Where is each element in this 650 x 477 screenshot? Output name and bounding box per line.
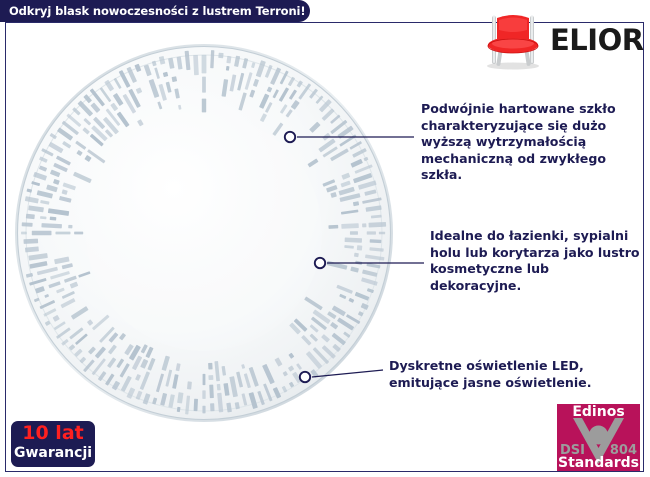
- brand-wordmark: ELIOR: [550, 23, 644, 57]
- standards-badge: Edinos DSI 804 Standards: [557, 404, 640, 471]
- callout-text-tempered-glass: Podwójnie hartowane szkło charakteryzują…: [421, 101, 637, 184]
- product-image-mirror: [13, 42, 395, 424]
- headline-text: Odkryj blask nowoczesności z lustrem Ter…: [0, 4, 306, 18]
- brand-logo: ELIOR: [480, 10, 640, 70]
- warranty-years-text: 10 lat: [11, 423, 95, 444]
- headline-banner: Odkryj blask nowoczesności z lustrem Ter…: [0, 0, 310, 22]
- warranty-badge: 10 lat Gwarancji: [11, 421, 95, 467]
- red-chair-icon: [480, 10, 546, 70]
- product-infographic-page: Odkryj blask nowoczesności z lustrem Ter…: [0, 0, 650, 477]
- mirror-graphic: [13, 42, 395, 424]
- warranty-label-text: Gwarancji: [11, 444, 95, 462]
- standards-label-text: Standards: [557, 455, 640, 471]
- standards-brand-text: Edinos: [557, 404, 640, 420]
- callout-text-led: Dyskretne oświetlenie LED, emitujące jas…: [389, 358, 624, 391]
- callout-text-rooms: Idealne do łazienki, sypialni holu lub k…: [430, 228, 640, 294]
